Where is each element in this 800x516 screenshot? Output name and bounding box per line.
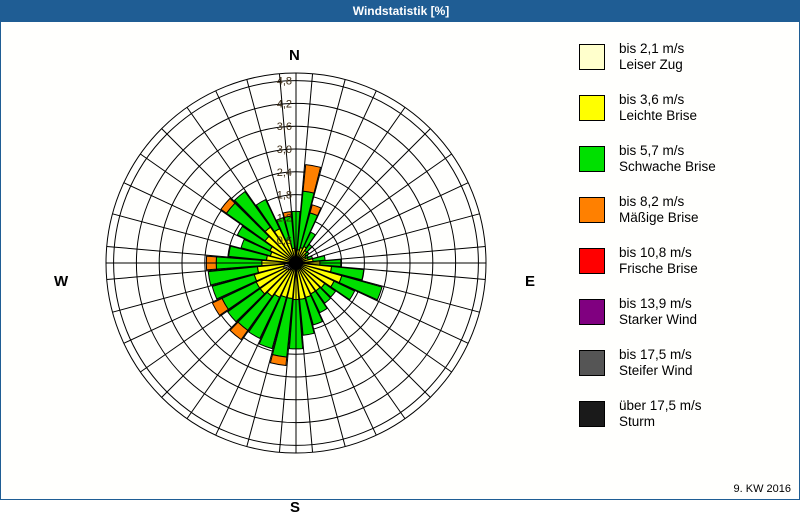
legend-item: über 17,5 m/sSturm bbox=[579, 398, 794, 441]
radial-tick-label: 3,6 bbox=[277, 121, 292, 133]
legend-name: Mäßige Brise bbox=[619, 210, 699, 226]
legend-name: Leichte Brise bbox=[619, 108, 697, 124]
radial-tick-label: 4,2 bbox=[277, 98, 292, 110]
grid-spoke bbox=[296, 129, 430, 263]
compass-label-south: S bbox=[290, 499, 300, 516]
legend-swatch bbox=[579, 146, 605, 172]
legend-label: bis 3,6 m/sLeichte Brise bbox=[619, 92, 697, 124]
legend-name: Sturm bbox=[619, 414, 702, 430]
legend-swatch bbox=[579, 44, 605, 70]
radial-tick-label: 0,6 bbox=[277, 235, 292, 247]
legend-item: bis 2,1 m/sLeiser Zug bbox=[579, 41, 794, 84]
radial-tick-label: 1,2 bbox=[277, 212, 292, 224]
legend-speed: bis 13,9 m/s bbox=[619, 296, 692, 311]
legend-item: bis 13,9 m/sStarker Wind bbox=[579, 296, 794, 339]
radial-tick-label: 3,0 bbox=[277, 144, 292, 156]
legend-swatch bbox=[579, 95, 605, 121]
legend-name: Steifer Wind bbox=[619, 363, 693, 379]
rose-sector-segment bbox=[303, 165, 321, 193]
legend-item: bis 5,7 m/sSchwache Brise bbox=[579, 143, 794, 186]
legend-speed: über 17,5 m/s bbox=[619, 398, 702, 413]
legend-speed: bis 5,7 m/s bbox=[619, 143, 684, 158]
legend-swatch bbox=[579, 197, 605, 223]
legend: bis 2,1 m/sLeiser Zugbis 3,6 m/sLeichte … bbox=[579, 41, 794, 449]
legend-swatch bbox=[579, 401, 605, 427]
legend-item: bis 17,5 m/sSteifer Wind bbox=[579, 347, 794, 390]
legend-label: bis 13,9 m/sStarker Wind bbox=[619, 296, 697, 328]
legend-swatch bbox=[579, 350, 605, 376]
legend-label: bis 17,5 m/sSteifer Wind bbox=[619, 347, 693, 379]
legend-name: Schwache Brise bbox=[619, 159, 716, 175]
legend-item: bis 10,8 m/sFrische Brise bbox=[579, 245, 794, 288]
radial-tick-label: 2,4 bbox=[277, 167, 292, 179]
legend-speed: bis 17,5 m/s bbox=[619, 347, 692, 362]
compass-label-west: W bbox=[54, 273, 68, 290]
legend-label: über 17,5 m/sSturm bbox=[619, 398, 702, 430]
legend-label: bis 10,8 m/sFrische Brise bbox=[619, 245, 698, 277]
legend-swatch bbox=[579, 299, 605, 325]
wind-rose-svg: 0,61,21,82,43,03,64,24,8 bbox=[1, 21, 571, 499]
window-title: Windstatistik [%] bbox=[353, 4, 450, 18]
window-title-bar: Windstatistik [%] bbox=[1, 1, 800, 21]
footer-date: 9. KW 2016 bbox=[734, 483, 791, 495]
legend-item: bis 3,6 m/sLeichte Brise bbox=[579, 92, 794, 135]
wind-rose-chart: 0,61,21,82,43,03,64,24,8 N E S W bbox=[1, 21, 571, 499]
legend-speed: bis 10,8 m/s bbox=[619, 245, 692, 260]
legend-name: Leiser Zug bbox=[619, 57, 684, 73]
radial-tick-label: 4,8 bbox=[277, 76, 292, 88]
legend-label: bis 8,2 m/sMäßige Brise bbox=[619, 194, 699, 226]
legend-name: Frische Brise bbox=[619, 261, 698, 277]
legend-speed: bis 3,6 m/s bbox=[619, 92, 684, 107]
legend-item: bis 8,2 m/sMäßige Brise bbox=[579, 194, 794, 237]
window-root: Windstatistik [%] 0,61,21,82,43,03,64,24… bbox=[0, 0, 800, 500]
legend-swatch bbox=[579, 248, 605, 274]
radial-tick-label: 1,8 bbox=[277, 190, 292, 202]
legend-speed: bis 2,1 m/s bbox=[619, 41, 684, 56]
compass-label-east: E bbox=[525, 273, 535, 290]
grid-spoke bbox=[296, 183, 468, 263]
legend-label: bis 5,7 m/sSchwache Brise bbox=[619, 143, 716, 175]
legend-label: bis 2,1 m/sLeiser Zug bbox=[619, 41, 684, 73]
legend-speed: bis 8,2 m/s bbox=[619, 194, 684, 209]
legend-name: Starker Wind bbox=[619, 312, 697, 328]
compass-label-north: N bbox=[289, 47, 300, 64]
